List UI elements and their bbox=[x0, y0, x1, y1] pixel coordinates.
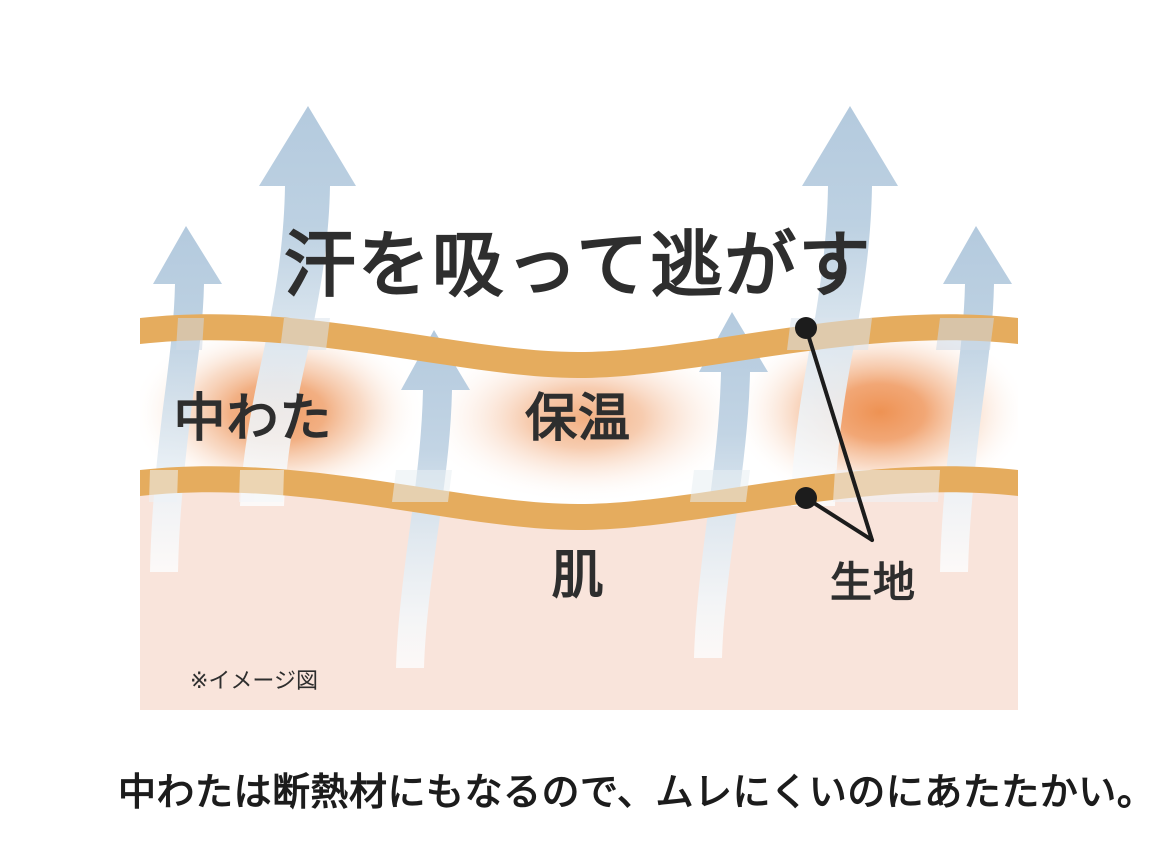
callout-dot-upper bbox=[795, 317, 817, 339]
label-skin: 肌 bbox=[551, 546, 604, 606]
figure-root: 汗を吸って逃がす 中わた 保温 肌 生地 ※イメージ図 中わたは断熱材にもなるの… bbox=[0, 0, 1156, 868]
figure-caption: 中わたは断熱材にもなるので、ムレにくいのにあたたかい。 bbox=[118, 770, 1155, 814]
label-middle-layer: 中わた bbox=[173, 389, 332, 449]
image-note: ※イメージ図 bbox=[190, 669, 318, 694]
label-warmth: 保温 bbox=[525, 389, 631, 449]
label-fabric: 生地 bbox=[830, 558, 916, 607]
diagram-canvas: 汗を吸って逃がす 中わた 保温 肌 生地 ※イメージ図 中わたは断熱材にもなるの… bbox=[0, 0, 1156, 868]
callout-dot-lower bbox=[795, 487, 817, 509]
headline: 汗を吸って逃がす bbox=[284, 223, 872, 307]
